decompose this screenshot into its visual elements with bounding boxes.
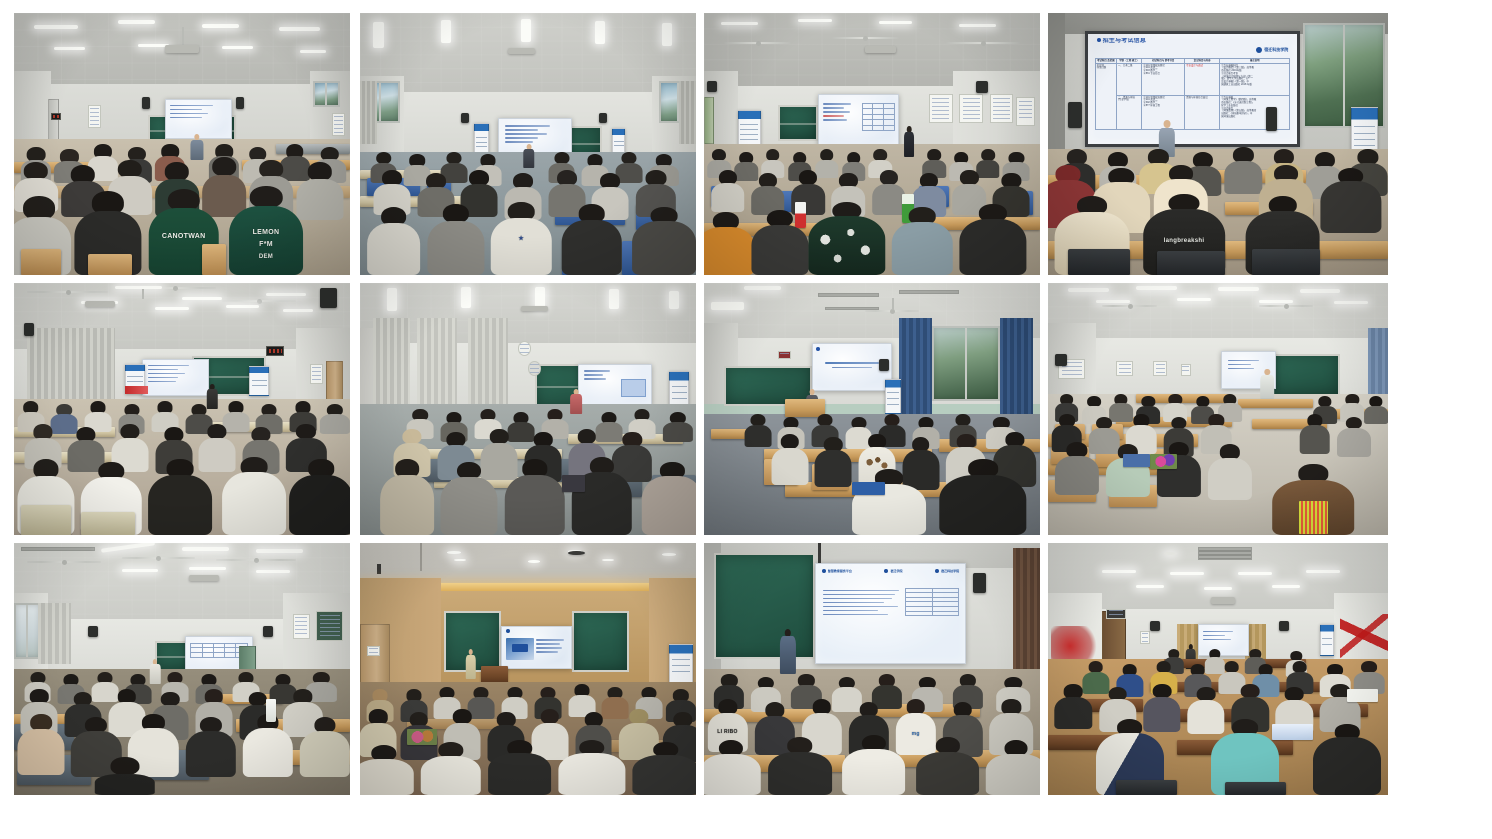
projector-screen: [578, 364, 652, 407]
wall-frame: [1181, 364, 1191, 377]
flowers: [407, 729, 437, 744]
photo-row2-col1[interactable]: [14, 283, 350, 535]
presenter: [464, 649, 477, 679]
slide-table: [862, 103, 895, 131]
thermos: [266, 699, 276, 722]
speaker-box: [1150, 621, 1160, 631]
backpack: [562, 475, 586, 493]
blackboard: [778, 105, 818, 142]
projector-screen: [501, 626, 572, 669]
shirt-text: LI RIBO: [717, 729, 737, 735]
logo-3: 宿迁科技学院: [935, 569, 959, 573]
photo-row3-col4[interactable]: [1048, 543, 1388, 795]
wall-frame: [316, 611, 343, 641]
shirt-text: F*M: [259, 241, 273, 248]
ceiling-fan: [832, 37, 899, 39]
exit-sign: [51, 113, 61, 121]
photo-row3-col2[interactable]: [360, 543, 696, 795]
slide-content: [502, 627, 571, 668]
left-wall: [1048, 13, 1065, 157]
curtain: [360, 81, 377, 144]
red-wall-decal-right: [1340, 614, 1388, 659]
speaker-box: [599, 113, 607, 123]
shirt-text: LEMON: [253, 229, 280, 236]
curtain: [679, 81, 696, 144]
slide-header: [816, 347, 822, 353]
photo-row2-col2[interactable]: [360, 283, 696, 535]
papers: [1347, 689, 1378, 702]
photo-row1-col4[interactable]: 招生与考试信息 宿迁科技学院 考试科目 及范围 学制（工程 硕士） 初试科目与 …: [1048, 13, 1388, 275]
speaker-box: [24, 323, 34, 336]
presenter: [902, 126, 915, 157]
speaker-box: [707, 81, 717, 91]
speaker-box: [320, 288, 337, 308]
speaker-box: [976, 81, 988, 93]
speaker-box: [236, 97, 245, 109]
window: [313, 81, 340, 107]
presenter: [568, 389, 583, 414]
air-conditioner-vent: [1198, 547, 1252, 561]
blue-curtain: [899, 318, 933, 414]
tablet: [852, 482, 886, 495]
photo-row3-col1[interactable]: [14, 543, 350, 795]
banner-stand: [885, 379, 900, 414]
speaker-box: [263, 626, 273, 637]
ceiling-fan: [27, 291, 108, 293]
logo-1: 智慧教育服务平台: [822, 569, 852, 573]
logo-2: 宿迁学院: [884, 569, 902, 573]
shirt-text: langbreakshi: [1164, 238, 1205, 244]
projector-screen: [818, 94, 899, 146]
slide-content: [819, 95, 898, 145]
slide-title: 招生与考试信息: [1097, 38, 1146, 45]
wall-notice: [310, 364, 323, 384]
institution-logo: [506, 629, 512, 633]
presenter: [1259, 369, 1276, 399]
projector: [85, 301, 115, 307]
photo-collage: CANOTWAN LEMON F*M DEM: [0, 0, 1492, 839]
poster-stand: [249, 366, 269, 396]
projector: [865, 46, 895, 53]
projector: [508, 48, 535, 55]
curtain: [373, 318, 410, 409]
wall-frame: [293, 614, 310, 639]
window: [932, 326, 999, 402]
curtain: [417, 318, 457, 409]
projector: [165, 45, 199, 53]
slide-table: [905, 588, 959, 616]
institution-logo: 宿迁科技学院: [1256, 47, 1288, 53]
photo-row2-col4[interactable]: [1048, 283, 1388, 535]
curtain: [27, 328, 114, 404]
wall-notice: [1016, 97, 1034, 126]
blackboard: [714, 553, 815, 659]
wall-cabinet: [332, 113, 345, 137]
slide-content: [579, 365, 651, 406]
led-sign: [266, 346, 284, 356]
ceiling-fan: [724, 42, 791, 44]
projector-screen: [142, 359, 209, 397]
ceiling-fan: [27, 561, 101, 563]
flowers: [1150, 454, 1177, 469]
wall-notice: [1140, 631, 1150, 644]
presenter: [778, 629, 798, 674]
photo-row1-col1[interactable]: CANOTWAN LEMON F*M DEM: [14, 13, 350, 275]
photo-row3-col3[interactable]: 智慧教育服务平台 宿迁学院 宿迁科技学院: [704, 543, 1040, 795]
shirt-text: DEM: [259, 254, 273, 260]
red-banner: [125, 386, 149, 394]
wall-notice: [929, 94, 953, 123]
curtain: [38, 603, 72, 663]
hanging-lamp: [899, 290, 959, 294]
ceiling-fan: [216, 559, 297, 561]
speaker-box: [142, 97, 151, 109]
ceiling-fan: [222, 300, 296, 302]
photo-row2-col3[interactable]: [704, 283, 1040, 535]
ceiling-fan: [946, 42, 1020, 44]
blackboard: [1272, 354, 1340, 397]
wall-frame: [1106, 609, 1126, 619]
slide-content: [143, 360, 208, 396]
speaker-box: [1055, 354, 1067, 367]
presenter: [189, 134, 206, 160]
hanging-lamp: [818, 293, 878, 297]
speaker-box: [879, 359, 889, 372]
speaker-box: [1266, 107, 1278, 131]
wall-notice: [88, 105, 101, 129]
wall-sign: [778, 351, 791, 359]
admissions-table: 考试科目 及范围 学制（工程 硕士） 初试科目与 参考书目 复试科目与内容 备注…: [1095, 58, 1291, 130]
shirt-graphic: ★: [518, 235, 524, 242]
projector: [189, 575, 219, 581]
curtain: [1013, 548, 1040, 679]
shirt-text: CANOTWAN: [162, 233, 206, 240]
curtain: [468, 318, 508, 409]
banner-stand: [669, 644, 693, 684]
slide-content: 智慧教育服务平台 宿迁学院 宿迁科技学院: [816, 564, 965, 663]
wall-notice: [959, 94, 983, 123]
wall-frame: [1116, 361, 1133, 376]
projector-screen: 智慧教育服务平台 宿迁学院 宿迁科技学院: [815, 563, 966, 664]
speaker-box: [88, 626, 98, 637]
projector: [568, 551, 585, 555]
presenter: [521, 144, 536, 168]
wall-notice: [990, 94, 1014, 123]
papers: [1272, 724, 1313, 739]
blue-curtain: [1000, 318, 1034, 414]
photo-row1-col2[interactable]: ★: [360, 13, 696, 275]
ceiling-fan: [122, 557, 196, 559]
speaker-box: [461, 113, 469, 123]
ceiling-fan: [1259, 305, 1313, 307]
photo-row1-col3[interactable]: [704, 13, 1040, 275]
blackboard-right: [572, 611, 629, 671]
projector: [1211, 597, 1235, 604]
door: [48, 99, 60, 141]
door: [704, 97, 714, 144]
water-dispenser-poster: [1320, 624, 1334, 657]
projector: [521, 306, 548, 311]
slide-bullets: [823, 590, 901, 618]
wall-frame: [1153, 361, 1167, 376]
speaker-box: [1068, 102, 1082, 128]
speaker-box: [1279, 621, 1289, 631]
door-sign: [367, 646, 380, 656]
blue-bag: [1123, 454, 1150, 467]
slide-content: [166, 100, 231, 137]
speaker-box: [973, 573, 986, 593]
lamp-strip: [21, 547, 95, 551]
